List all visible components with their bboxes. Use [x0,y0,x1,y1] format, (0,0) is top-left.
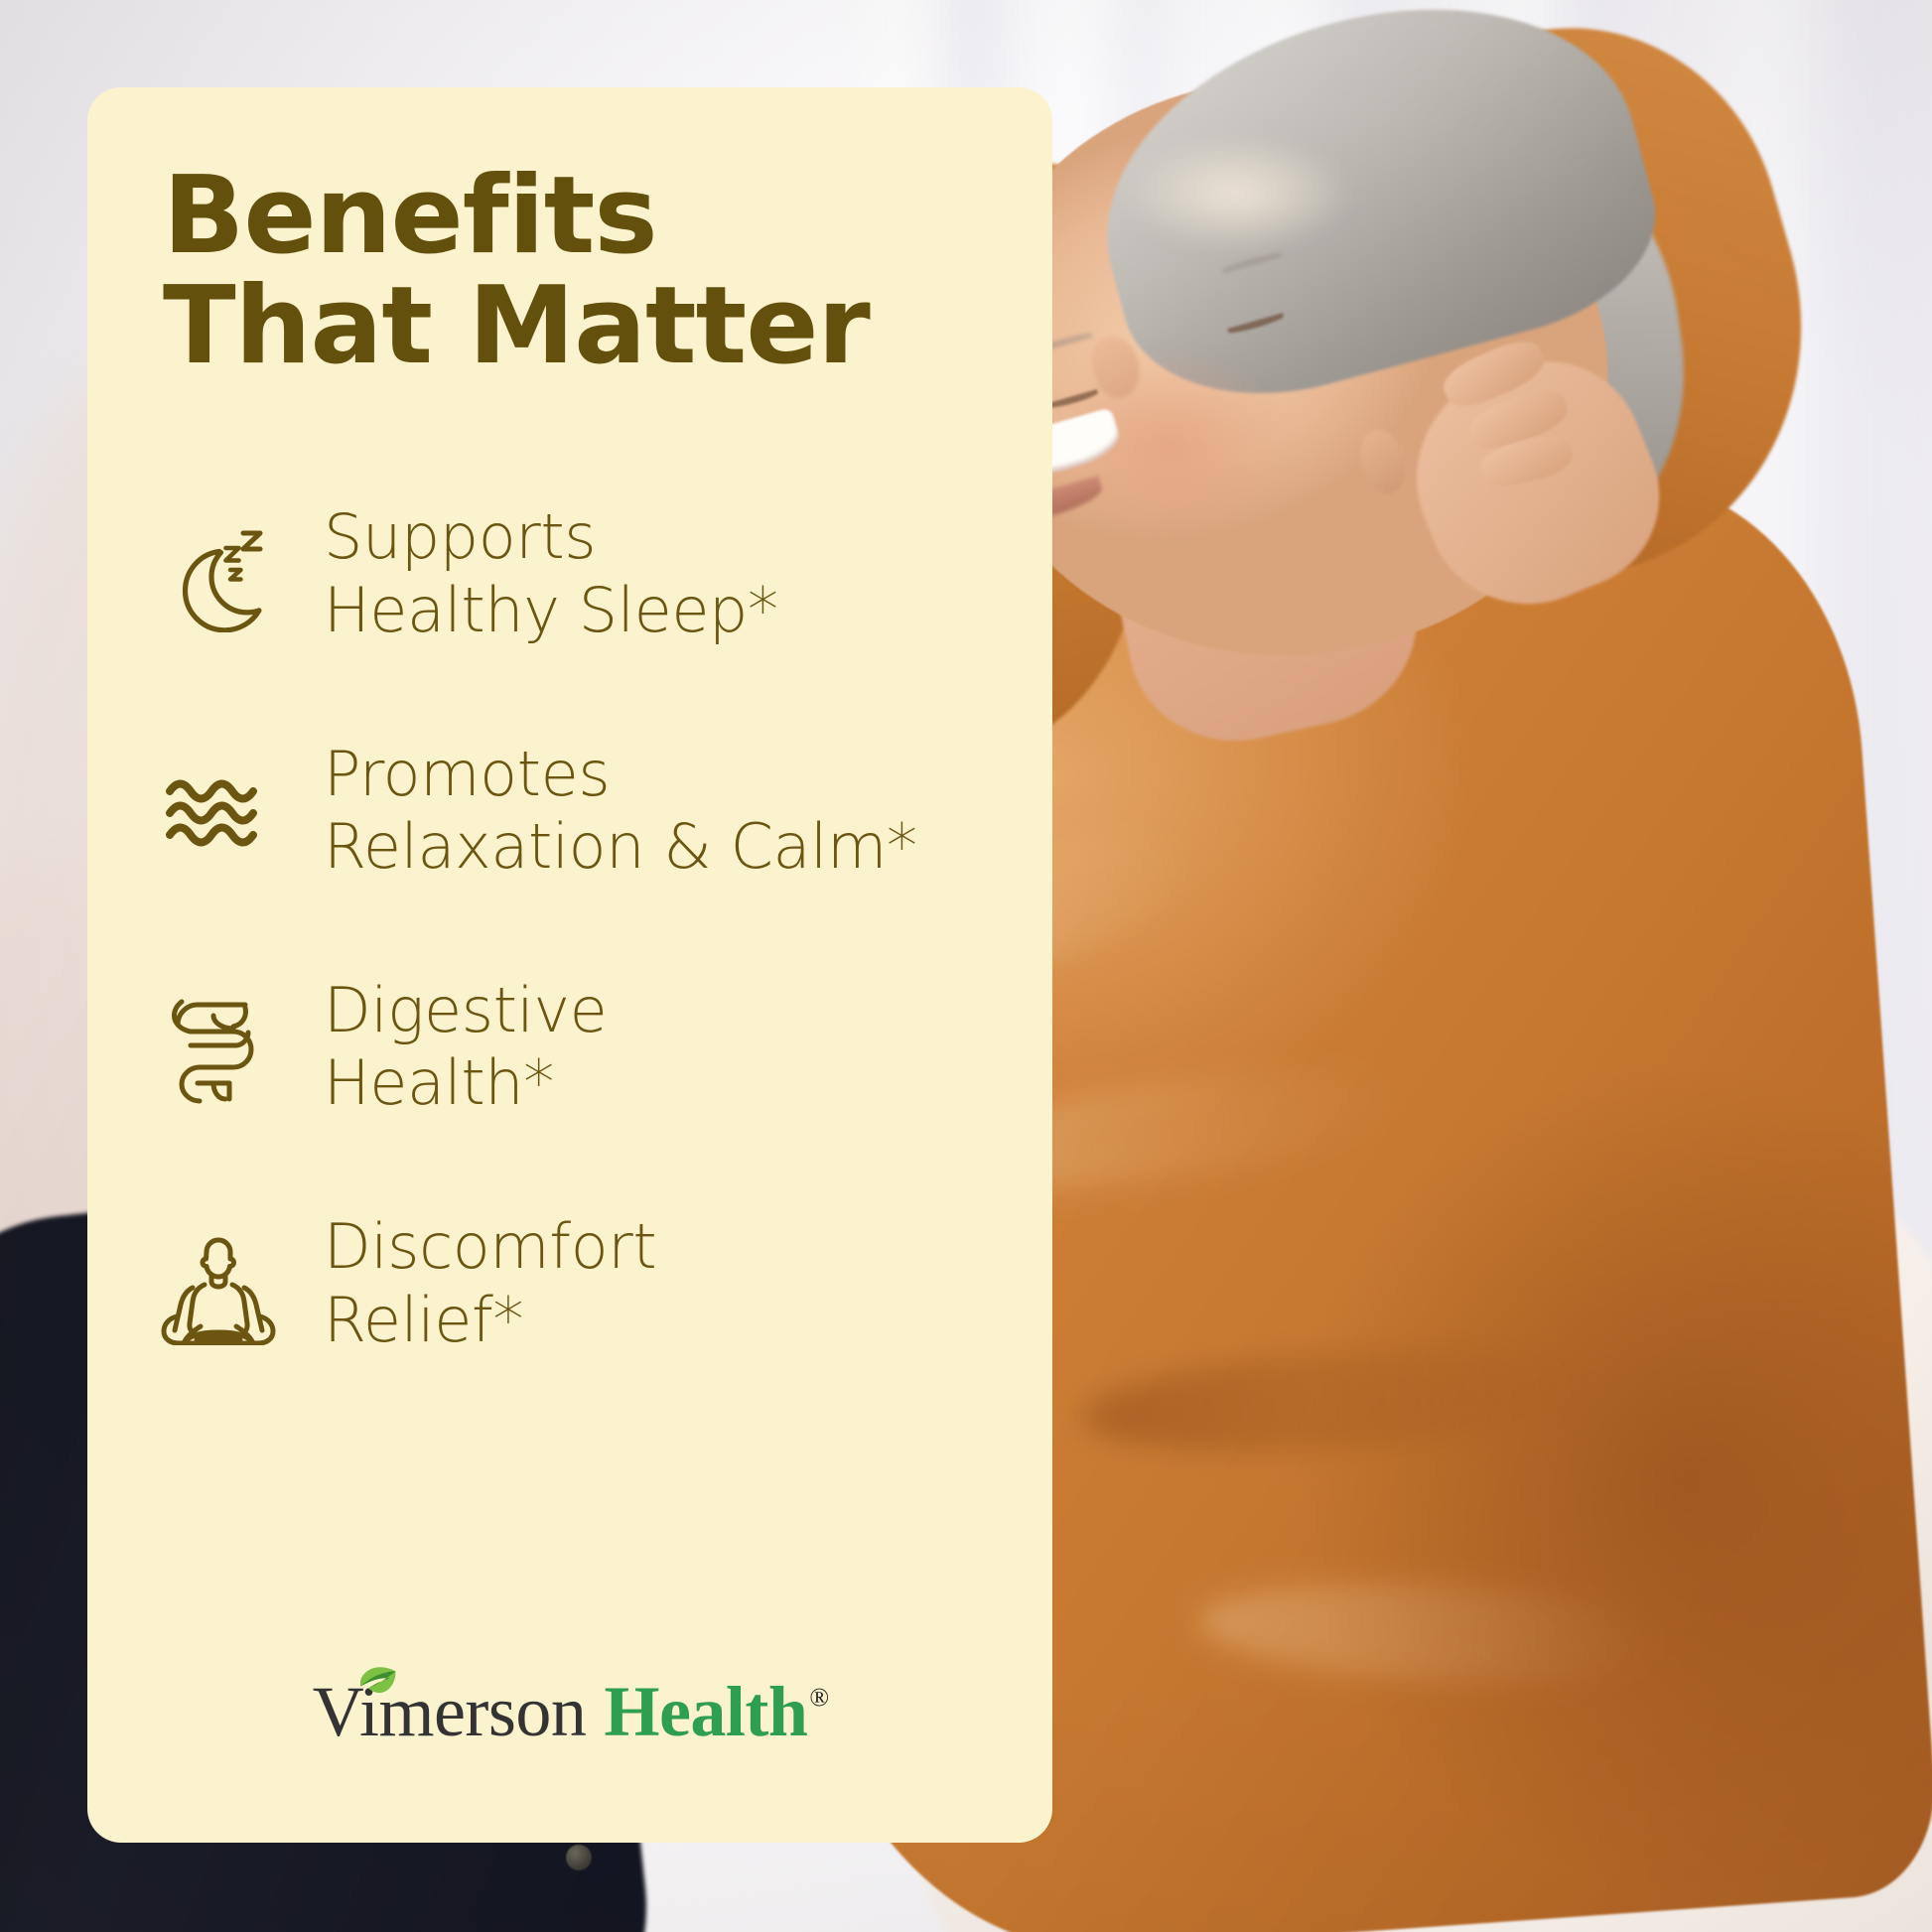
list-item: Supports Healthy Sleep* [157,500,983,645]
benefit-line-1: Digestive [324,974,607,1046]
headline-line-2: That Matter [163,271,983,381]
benefit-line-1: Discomfort [324,1210,656,1283]
benefit-line-2: Healthy Sleep* [324,574,778,646]
meditation-lotus-pose-icon [157,1222,280,1345]
benefit-line-1: Promotes [324,738,917,810]
list-item: Discomfort Relief* [157,1210,983,1355]
list-item-label: Promotes Relaxation & Calm* [324,738,917,883]
list-item-label: Discomfort Relief* [324,1210,656,1355]
brand-logo: Vimerson Health ® [157,1676,983,1747]
benefit-line-2: Health* [324,1046,607,1119]
intestine-icon [157,985,280,1108]
list-item: Digestive Health* [157,974,983,1119]
list-item: Promotes Relaxation & Calm* [157,738,983,883]
benefits-card: Benefits That Matter Supports Healthy Sl… [87,87,1052,1843]
list-item-label: Digestive Health* [324,974,607,1119]
logo-word-health: Health [604,1676,807,1747]
headline-line-1: Benefits [163,161,983,271]
moon-zzz-icon [157,512,280,635]
benefit-line-2: Relaxation & Calm* [324,810,917,883]
page-title: Benefits That Matter [157,161,983,381]
wavy-lines-icon [157,749,280,872]
benefit-line-2: Relief* [324,1284,656,1356]
benefit-line-1: Supports [324,500,778,573]
registered-trademark-symbol: ® [809,1685,829,1711]
list-item-label: Supports Healthy Sleep* [324,500,778,645]
benefits-list: Supports Healthy Sleep* Promotes Relaxat… [157,500,983,1355]
